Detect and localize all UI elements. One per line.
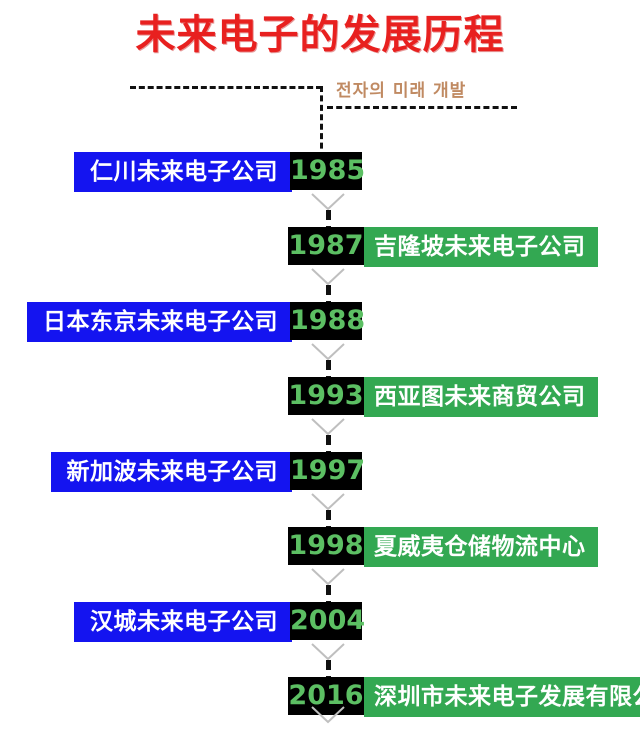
timeline-year-badge[interactable]: 1987: [288, 227, 364, 265]
timeline-company-label[interactable]: 新加波未来电子公司: [51, 452, 293, 492]
timeline-year-badge[interactable]: 1993: [288, 377, 364, 415]
timeline-entry: 汉城未来电子公司2004: [0, 602, 640, 642]
timeline-connector-bottom: [306, 705, 350, 725]
page-subtitle: 전자의 미래 개발: [336, 76, 466, 101]
timeline-entry: 日本东京未来电子公司1988: [0, 302, 640, 342]
page-title: 未来电子的发展历程: [0, 12, 640, 58]
chevron-down-icon: [306, 417, 350, 437]
timeline-year-badge[interactable]: 1997: [290, 452, 362, 490]
chevron-down-icon: [306, 710, 350, 729]
chevron-down-icon: [306, 192, 350, 212]
timeline-year-badge[interactable]: 1988: [290, 302, 362, 340]
timeline-company-label[interactable]: 吉隆坡未来电子公司: [364, 227, 598, 267]
timeline-company-label[interactable]: 汉城未来电子公司: [74, 602, 292, 642]
timeline-entry: 仁川未来电子公司1985: [0, 152, 640, 192]
timeline-entry: 吉隆坡未来电子公司1987: [0, 227, 640, 267]
chevron-down-icon: [306, 342, 350, 362]
timeline-company-label[interactable]: 夏威夷仓储物流中心: [364, 527, 598, 567]
timeline-entry: 西亚图未来商贸公司1993: [0, 377, 640, 417]
timeline-entry: 夏威夷仓储物流中心1998: [0, 527, 640, 567]
chevron-down-icon: [306, 567, 350, 587]
timeline-year-badge[interactable]: 1985: [290, 152, 362, 190]
chevron-down-icon: [306, 492, 350, 512]
timeline-company-label[interactable]: 仁川未来电子公司: [74, 152, 292, 192]
header-dashed-line-left: [130, 86, 322, 89]
timeline-company-label[interactable]: 日本东京未来电子公司: [27, 302, 292, 342]
timeline-year-badge[interactable]: 1998: [288, 527, 364, 565]
chevron-down-icon: [306, 642, 350, 662]
timeline-entry: 新加波未来电子公司1997: [0, 452, 640, 492]
header-dashed-line-right: [327, 106, 517, 109]
timeline-company-label[interactable]: 深圳市未来电子发展有限公司: [364, 677, 640, 717]
timeline-year-badge[interactable]: 2004: [290, 602, 362, 640]
header-dashed-line-vertical: [320, 86, 323, 158]
chevron-down-icon: [306, 267, 350, 287]
timeline-company-label[interactable]: 西亚图未来商贸公司: [364, 377, 598, 417]
